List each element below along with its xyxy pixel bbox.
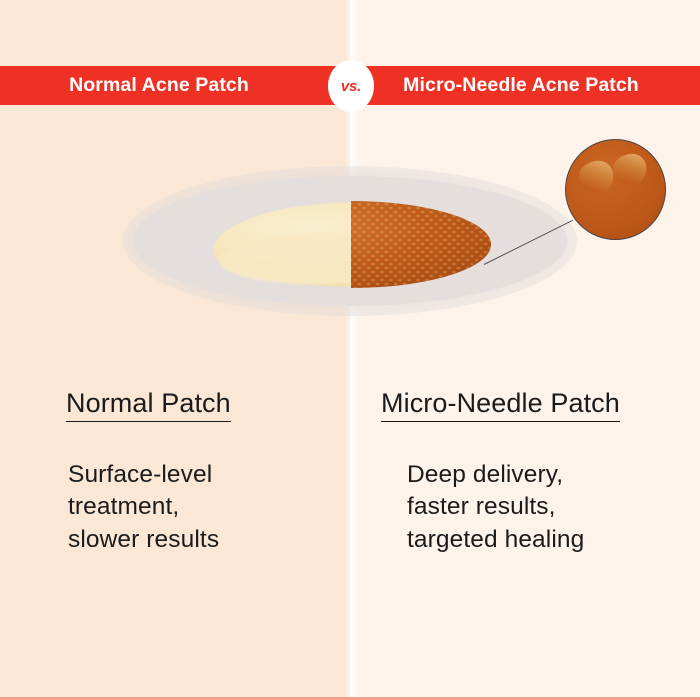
- callout-magnifier: [565, 139, 666, 240]
- micro-needle-shading: [351, 201, 491, 288]
- right-column-heading: Micro-Needle Patch: [381, 390, 620, 422]
- banner-label-normal: Normal Acne Patch: [14, 76, 304, 96]
- banner-label-microneedle: Micro-Needle Acne Patch: [356, 76, 686, 96]
- left-heading-wrap: Normal Patch: [0, 390, 351, 422]
- serum-droplet-icon: [607, 146, 654, 193]
- left-column-heading: Normal Patch: [66, 390, 231, 422]
- right-column-body: Deep delivery, faster results, targeted …: [351, 459, 700, 556]
- column-microneedle-patch: Micro-Needle Patch Deep delivery, faster…: [351, 390, 700, 556]
- serum-droplet-icon: [573, 153, 621, 201]
- normal-patch-gel: [213, 202, 353, 287]
- right-heading-wrap: Micro-Needle Patch: [351, 390, 700, 422]
- vs-badge-label: vs.: [341, 79, 361, 94]
- column-normal-patch: Normal Patch Surface-level treatment, sl…: [0, 390, 351, 556]
- micro-needle-patch: [351, 201, 491, 288]
- left-column-body: Surface-level treatment, slower results: [0, 459, 351, 556]
- vs-badge: vs.: [328, 60, 374, 112]
- comparison-infographic: Normal Acne Patch Micro-Needle Acne Patc…: [0, 0, 700, 700]
